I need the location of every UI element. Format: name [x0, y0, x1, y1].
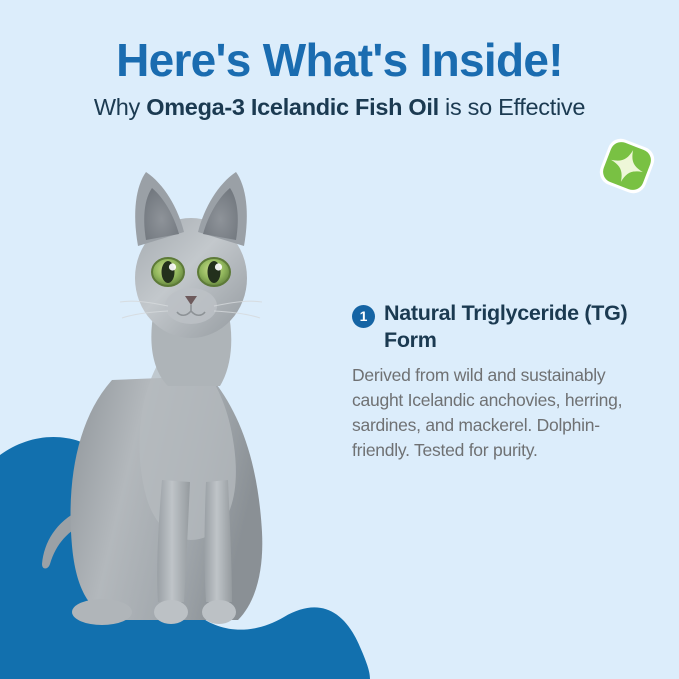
feature-heading-row: 1 Natural Triglyceride (TG) Form [352, 300, 642, 354]
russian-blue-cat-photo [42, 150, 322, 650]
subtitle-product-name: Omega-3 Icelandic Fish Oil [146, 94, 439, 120]
feature-title: Natural Triglyceride (TG) Form [384, 300, 642, 354]
feature-description: Derived from wild and sustainably caught… [352, 363, 642, 463]
page-title: Here's What's Inside! [0, 0, 679, 88]
banner-header: Here's What's Inside! Why Omega-3 Icelan… [0, 0, 679, 122]
subtitle-prefix: Why [94, 94, 146, 120]
subtitle-suffix: is so Effective [439, 94, 585, 120]
page-subtitle: Why Omega-3 Icelandic Fish Oil is so Eff… [0, 88, 679, 122]
promo-banner: Here's What's Inside! Why Omega-3 Icelan… [0, 0, 679, 679]
sparkle-icon [592, 131, 662, 201]
feature-block-1: 1 Natural Triglyceride (TG) Form Derived… [352, 300, 642, 463]
feature-number-badge: 1 [352, 305, 375, 328]
